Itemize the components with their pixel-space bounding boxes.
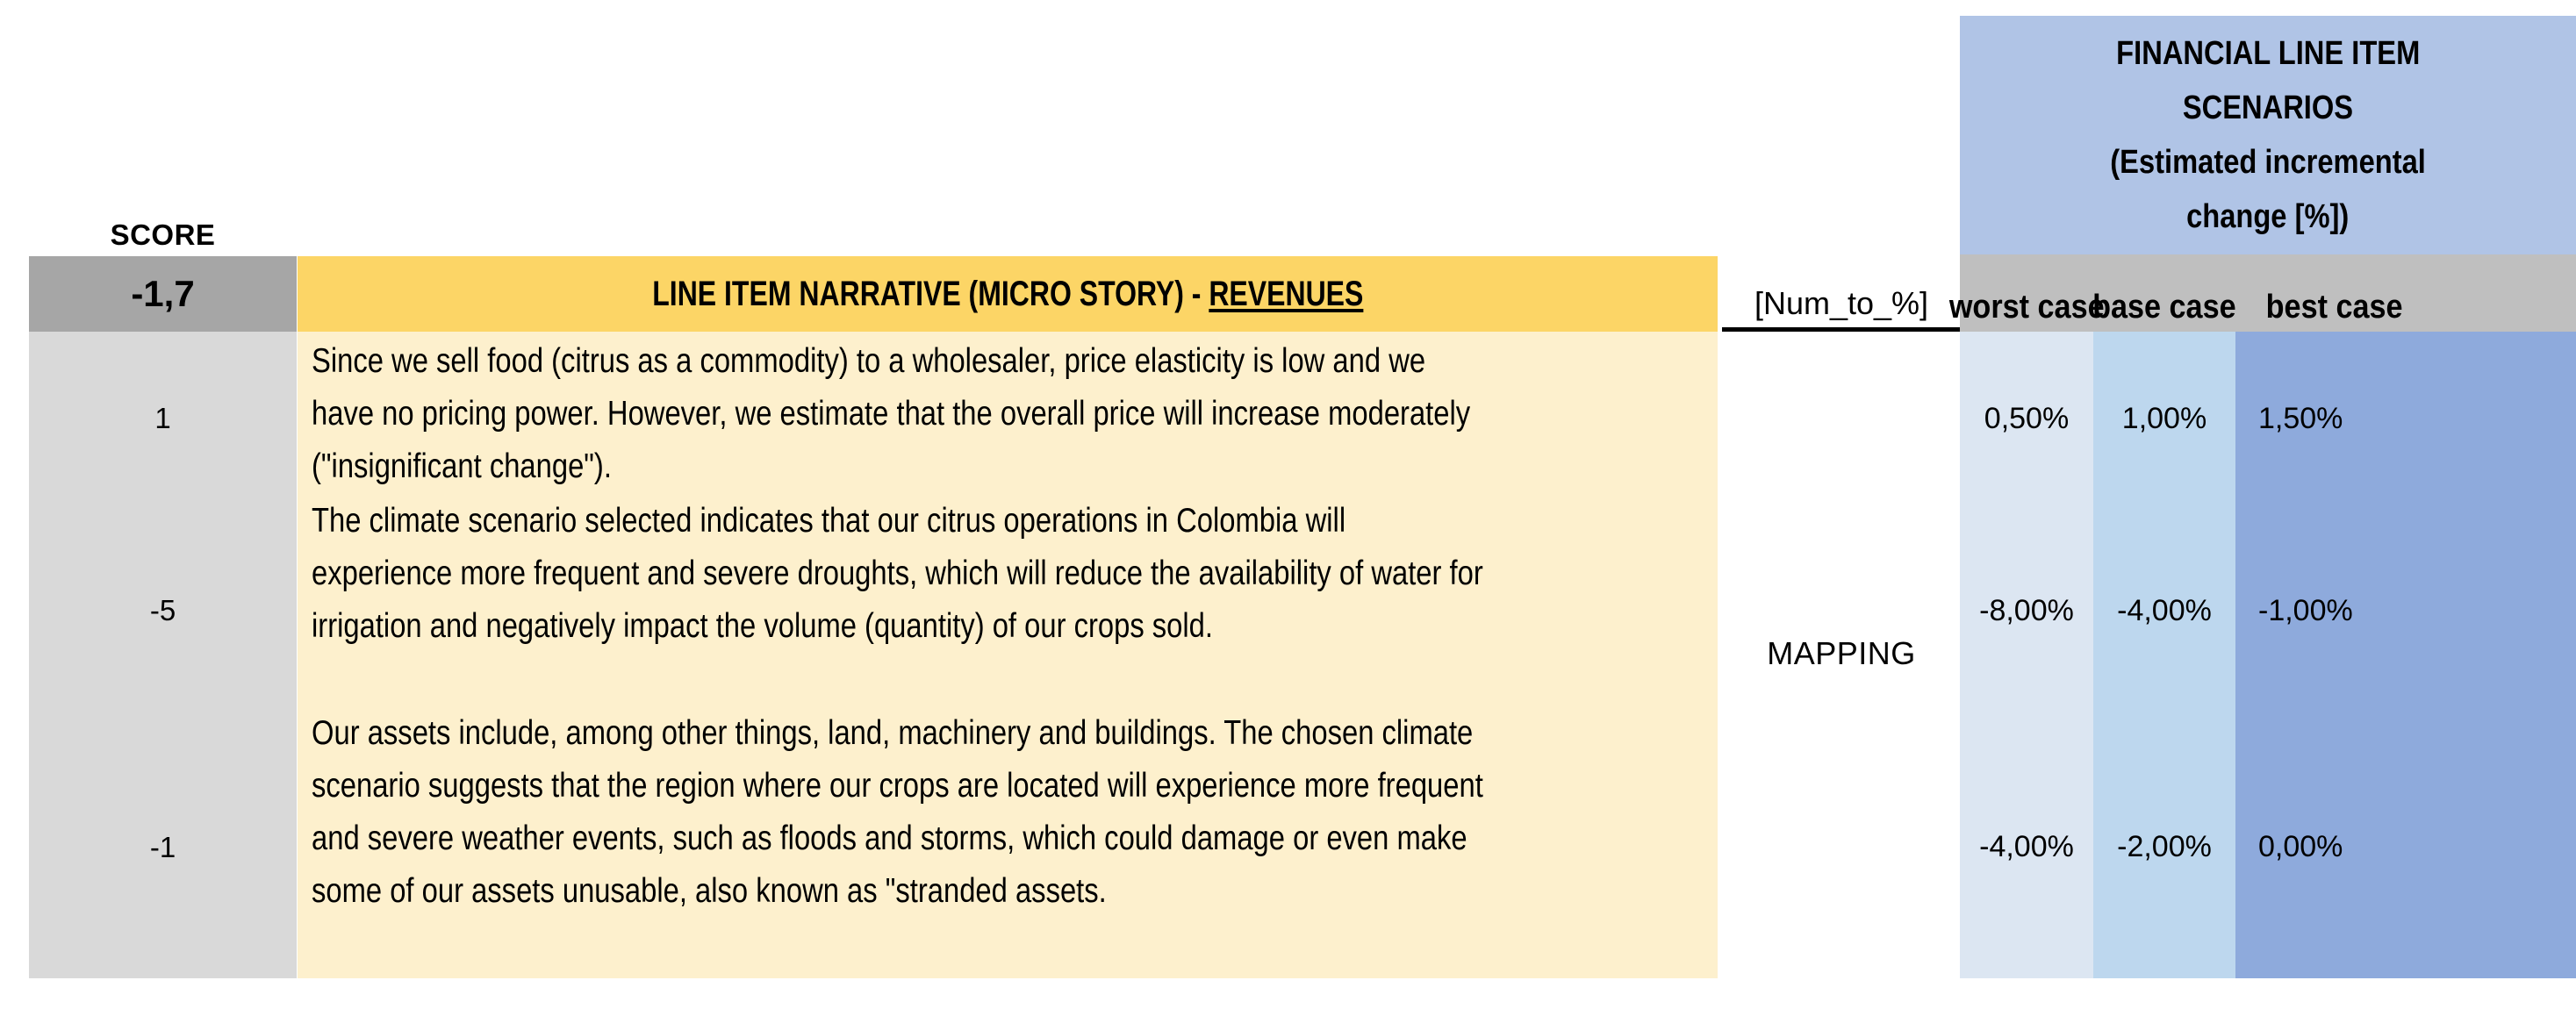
scenario-cell: 0,00% <box>2235 716 2576 978</box>
narrative-header-text: LINE ITEM NARRATIVE (MICRO STORY) - REVE… <box>652 275 1363 314</box>
aggregate-score-value: -1,7 <box>131 273 194 315</box>
scenario-cell: -4,00% <box>1960 716 2093 978</box>
narrative-column-body: Since we sell food (citrus as a commodit… <box>298 332 1718 978</box>
num-to-percent-label: [Num_to_%] <box>1722 256 1961 332</box>
scenario-cell: 1,50% <box>2235 332 2576 505</box>
score-value: 1 <box>154 402 170 435</box>
scenario-cell: 0,50% <box>1960 332 2093 505</box>
narrative-header-line-item: REVENUES <box>1209 275 1363 313</box>
narrative-paragraph: Our assets include, among other things, … <box>312 707 1488 918</box>
score-row: -1 <box>29 716 297 978</box>
scenarios-title-line: change [%]) <box>2186 190 2349 244</box>
scenario-cell: -1,00% <box>2235 505 2576 716</box>
scenario-header-best-case: best case <box>2235 254 2576 332</box>
scenarios-title-line: SCENARIOS <box>2183 81 2353 135</box>
scenario-cell: 1,00% <box>2093 332 2235 505</box>
score-column-header: SCORE <box>29 215 297 254</box>
score-row: 1 <box>29 332 297 505</box>
mapping-label: MAPPING <box>1722 627 1961 680</box>
scenario-header-row: worst case base case best case <box>1960 254 2576 332</box>
scenarios-title-line: FINANCIAL LINE ITEM <box>2116 26 2420 81</box>
score-value: -1 <box>150 831 176 864</box>
score-value: -5 <box>150 594 176 627</box>
scenario-cell: -4,00% <box>2093 505 2235 716</box>
scenarios-title-block: FINANCIAL LINE ITEM SCENARIOS (Estimated… <box>1960 16 2576 254</box>
scenario-column-base-case: 1,00% -4,00% -2,00% <box>2093 332 2235 978</box>
scenario-cell: -8,00% <box>1960 505 2093 716</box>
scenario-header-worst-case: worst case <box>1960 254 2093 332</box>
scenario-cell: -2,00% <box>2093 716 2235 978</box>
narrative-column-header: LINE ITEM NARRATIVE (MICRO STORY) - REVE… <box>298 256 1718 332</box>
aggregate-score-cell: -1,7 <box>29 256 297 332</box>
score-row: -5 <box>29 505 297 716</box>
scenarios-title-line: (Estimated incremental <box>2110 135 2426 190</box>
scenario-column-best-case: 1,50% -1,00% 0,00% <box>2235 332 2576 978</box>
mapping-text: MAPPING <box>1767 635 1916 672</box>
score-column-body: 1 -5 -1 <box>29 332 297 978</box>
scenario-header-base-case: base case <box>2093 254 2235 332</box>
narrative-paragraph: The climate scenario selected indicates … <box>312 495 1488 653</box>
num-to-percent-text: [Num_to_%] <box>1754 285 1928 322</box>
narrative-header-prefix: LINE ITEM NARRATIVE (MICRO STORY) - <box>652 275 1209 313</box>
scenario-column-worst-case: 0,50% -8,00% -4,00% <box>1960 332 2093 978</box>
narrative-paragraph: Since we sell food (citrus as a commodit… <box>312 335 1488 493</box>
